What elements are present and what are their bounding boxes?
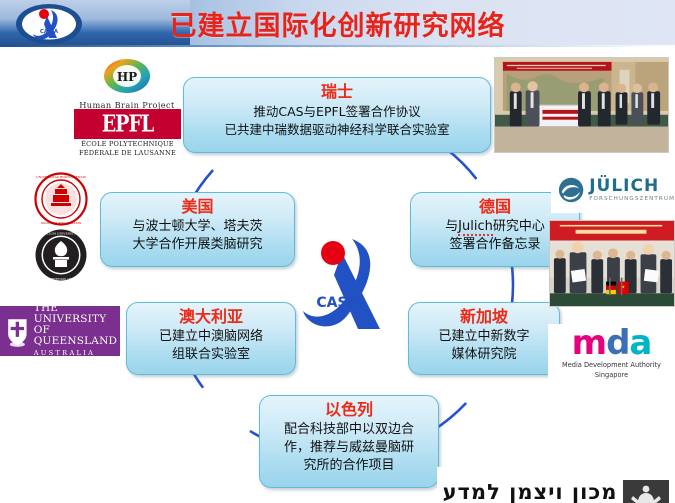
node-usa-title: 美国 — [108, 197, 287, 217]
node-usa[interactable]: 美国 与波士顿大学、塔夫茨 大学合作开展类脑研究 — [100, 192, 295, 267]
node-germany-title: 德国 — [418, 197, 572, 217]
node-israel-line-3: 究所的合作项目 — [267, 457, 431, 475]
juelich-wordmark: JÜLICH FORSCHUNGSZENTRUM — [589, 178, 675, 203]
weizmann-hebrew-text: מכון ויצמן למדע — [443, 481, 618, 503]
mda-sub-line-1: Media Development Authority — [548, 361, 675, 370]
node-switzerland-line-1: 推动CAS与EPFL签署合作协议 — [191, 103, 483, 121]
node-australia-line-2: 组联合实验室 — [134, 346, 288, 364]
uq-line-1: THE UNIVERSITY — [34, 303, 120, 325]
node-switzerland-title: 瑞士 — [191, 82, 483, 102]
epfl-subtitle-line-1: ÉCOLE POLYTECHNIQUE — [74, 140, 181, 148]
logo-epfl: EPFL ÉCOLE POLYTECHNIQUE FÉDÉRALE DE LAU… — [74, 109, 181, 155]
svg-text:TUFTENSIS 1852: TUFTENSIS 1852 — [47, 277, 74, 281]
mda-wordmark: mda — [548, 326, 675, 360]
spellcheck-underline: Julich — [458, 219, 493, 236]
logo-weizmann-institute: מכון ויצמן למדע WEIZMANN INSTITUTE OF SC… — [437, 467, 675, 503]
mda-sub-line-2: Singapore — [548, 371, 675, 380]
human-brain-project-icon: HP — [102, 57, 152, 95]
logo-boston-university-seal: UNIVERSITAS BOSTONIENSIS SIGILLUM MDCCCX… — [33, 171, 89, 227]
node-singapore-line-1: 已建立中新数字 — [416, 328, 552, 346]
node-israel[interactable]: 以色列 配合科技部中以双边合 作，推荐与威兹曼脑研 究所的合作项目 — [259, 395, 439, 488]
epfl-wordmark-block: EPFL — [74, 109, 181, 139]
node-israel-title: 以色列 — [267, 400, 431, 420]
page-title: 已建立国际化创新研究网络 — [0, 0, 675, 47]
node-singapore[interactable]: 新加坡 已建立中新数字 媒体研究院 — [408, 302, 560, 375]
svg-text:CASIA: CASIA — [316, 295, 363, 311]
node-usa-line-2: 大学合作开展类脑研究 — [108, 236, 287, 254]
svg-text:SIGILLUM UNIVERSITATIS: SIGILLUM UNIVERSITATIS — [40, 232, 82, 236]
node-singapore-title: 新加坡 — [416, 307, 552, 327]
svg-text:SIGILLUM MDCCCXXXIX: SIGILLUM MDCCCXXXIX — [41, 221, 82, 225]
svg-text:UNIVERSITAS BOSTONIENSIS: UNIVERSITAS BOSTONIENSIS — [36, 175, 86, 179]
logo-mda-singapore: mda Media Development Authority Singapor… — [548, 324, 675, 390]
node-singapore-line-2: 媒体研究院 — [416, 346, 552, 364]
node-israel-line-1: 配合科技部中以双边合 — [267, 421, 431, 439]
logo-tufts-university-seal: SIGILLUM UNIVERSITATIS TUFTENSIS 1852 — [33, 227, 89, 283]
slide-header: CASIA 已建立国际化创新研究网络 — [0, 0, 675, 47]
juelich-sub-text: FORSCHUNGSZENTRUM — [589, 197, 675, 203]
weizmann-emblem-icon — [623, 480, 669, 503]
svg-text:HP: HP — [117, 70, 137, 84]
slide-canvas: CASIA 瑞士 推动CAS与EPFL签署合作协议 已共建中瑞数据驱动神经科学联… — [0, 47, 675, 503]
casia-center-logo-icon: CASIA — [296, 231, 392, 341]
node-switzerland[interactable]: 瑞士 推动CAS与EPFL签署合作协议 已共建中瑞数据驱动神经科学联合实验室 — [183, 77, 491, 153]
epfl-subtitle-line-2: FÉDÉRALE DE LAUSANNE — [74, 149, 181, 157]
node-israel-line-2: 作，推荐与威兹曼脑研 — [267, 439, 431, 457]
slide-root: CASIA 已建立国际化创新研究网络 CASIA 瑞士 推动CAS与EPFL签署… — [0, 0, 675, 503]
epfl-wordmark: EPFL — [102, 110, 154, 138]
node-australia-line-1: 已建立中澳脑网络 — [134, 328, 288, 346]
logo-forschungszentrum-juelich: JÜLICH FORSCHUNGSZENTRUM — [551, 167, 675, 213]
lab-unveiling-ceremony-photo — [494, 57, 669, 153]
juelich-main-text: JÜLICH — [589, 178, 675, 195]
node-switzerland-line-2: 已共建中瑞数据驱动神经科学联合实验室 — [191, 121, 483, 139]
weizmann-wordmark: מכון ויצמן למדע WEIZMANN INSTITUTE OF SC… — [443, 481, 618, 503]
node-germany-line-1-text: 与Julich研究中心 — [445, 219, 545, 236]
logo-human-brain-project: HP Human Brain Project — [72, 57, 182, 109]
uq-line-3: AUSTRALIA — [34, 348, 120, 359]
node-australia[interactable]: 澳大利亚 已建立中澳脑网络 组联合实验室 — [126, 302, 296, 375]
node-usa-line-1: 与波士顿大学、塔夫茨 — [108, 218, 287, 236]
juelich-swirl-icon — [558, 175, 584, 205]
china-germany-mou-signing-photo: ★ — [549, 220, 675, 307]
uq-crest-icon — [4, 311, 31, 351]
node-australia-title: 澳大利亚 — [134, 307, 288, 327]
logo-university-of-queensland: THE UNIVERSITY OF QUEENSLAND AUSTRALIA — [0, 306, 120, 356]
uq-wordmark: THE UNIVERSITY OF QUEENSLAND AUSTRALIA — [34, 303, 120, 359]
uq-line-2: OF QUEENSLAND — [34, 325, 120, 347]
